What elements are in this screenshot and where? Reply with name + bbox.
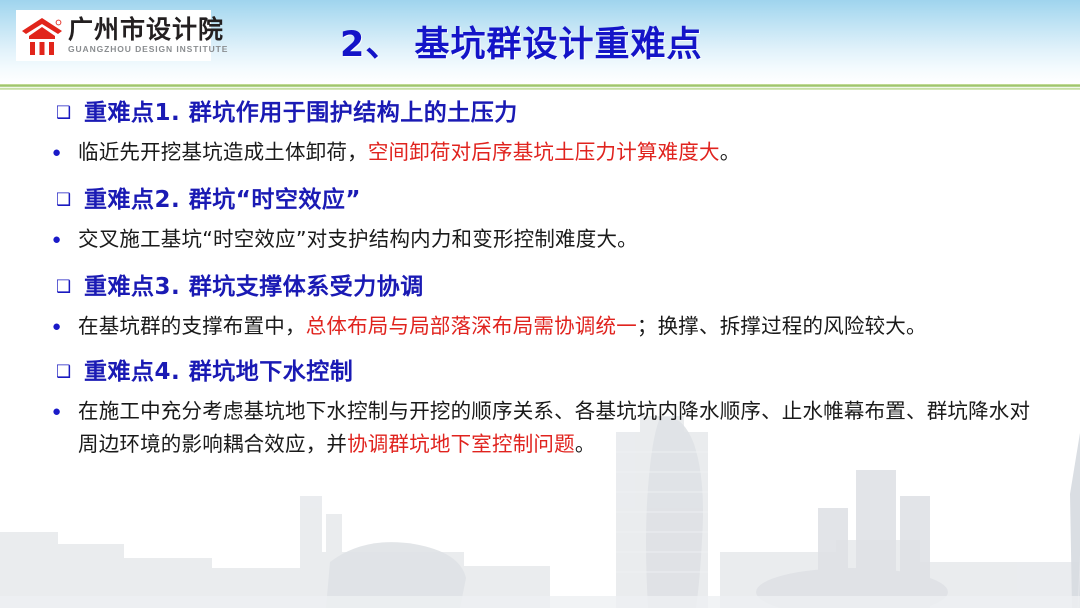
text-run: ；换撑、拆撑过程的风险较大。 — [637, 314, 927, 338]
section-2: ❑ 重难点2. 群坑“时空效应” ● 交叉施工基坑“时空效应”对支护结构内力和变… — [0, 183, 1080, 256]
square-bullet-icon: ❑ — [56, 183, 84, 217]
slide-canvas: 广州市设计院 GUANGZHOU DESIGN INSTITUTE 2、 基坑群… — [0, 0, 1080, 608]
section-1-heading: 重难点1. 群坑作用于围护结构上的土压力 — [84, 96, 518, 130]
round-bullet-icon: ● — [52, 136, 78, 169]
round-bullet-icon: ● — [52, 310, 78, 343]
section-3-heading: 重难点3. 群坑支撑体系受力协调 — [84, 270, 424, 304]
text-run: 交叉施工基坑“时空效应”对支护结构内力和变形控制难度大。 — [78, 227, 638, 251]
section-3: ❑ 重难点3. 群坑支撑体系受力协调 ● 在基坑群的支撑布置中，总体布局与局部落… — [0, 270, 1080, 343]
section-4-bullet-text: 在施工中充分考虑基坑地下水控制与开挖的顺序关系、各基坑坑内降水顺序、止水帷幕布置… — [78, 395, 1044, 461]
section-4-heading-row: ❑ 重难点4. 群坑地下水控制 — [0, 355, 1080, 389]
section-2-heading: 重难点2. 群坑“时空效应” — [84, 183, 361, 217]
section-3-bullet-text: 在基坑群的支撑布置中，总体布局与局部落深布局需协调统一；换撑、拆撑过程的风险较大… — [78, 310, 927, 343]
round-bullet-icon: ● — [52, 395, 78, 428]
square-bullet-icon: ❑ — [56, 96, 84, 130]
section-4-heading: 重难点4. 群坑地下水控制 — [84, 355, 353, 389]
section-2-bullet-text: 交叉施工基坑“时空效应”对支护结构内力和变形控制难度大。 — [78, 223, 638, 256]
text-run: 。 — [720, 140, 741, 164]
text-run: 临近先开挖基坑造成土体卸荷， — [78, 140, 368, 164]
text-run: 。 — [575, 432, 596, 456]
page-title: 2、 基坑群设计重难点 — [340, 16, 900, 67]
section-1-heading-row: ❑ 重难点1. 群坑作用于围护结构上的土压力 — [0, 96, 1080, 130]
highlight-run: 空间卸荷对后序基坑土压力计算难度大 — [368, 140, 720, 164]
highlight-run: 总体布局与局部落深布局需协调统一 — [306, 314, 637, 338]
highlight-run: 协调群坑地下室控制问题 — [347, 432, 575, 456]
square-bullet-icon: ❑ — [56, 355, 84, 389]
section-1-bullet-text: 临近先开挖基坑造成土体卸荷，空间卸荷对后序基坑土压力计算难度大。 — [78, 136, 740, 169]
house-logo-icon — [20, 16, 64, 56]
square-bullet-icon: ❑ — [56, 270, 84, 304]
logo-company-name-cn: 广州市设计院 — [68, 15, 224, 44]
slide-body: ❑ 重难点1. 群坑作用于围护结构上的土压力 ● 临近先开挖基坑造成土体卸荷，空… — [0, 96, 1080, 461]
logo-company-name-en: GUANGZHOU DESIGN INSTITUTE — [68, 45, 228, 54]
section-3-bullet-row: ● 在基坑群的支撑布置中，总体布局与局部落深布局需协调统一；换撑、拆撑过程的风险… — [0, 310, 1080, 343]
section-1: ❑ 重难点1. 群坑作用于围护结构上的土压力 ● 临近先开挖基坑造成土体卸荷，空… — [0, 96, 1080, 169]
section-2-heading-row: ❑ 重难点2. 群坑“时空效应” — [0, 183, 1080, 217]
section-1-bullet-row: ● 临近先开挖基坑造成土体卸荷，空间卸荷对后序基坑土压力计算难度大。 — [0, 136, 1080, 169]
section-4-bullet-row: ● 在施工中充分考虑基坑地下水控制与开挖的顺序关系、各基坑坑内降水顺序、止水帷幕… — [0, 395, 1080, 461]
header-green-divider — [0, 84, 1080, 90]
section-4: ❑ 重难点4. 群坑地下水控制 ● 在施工中充分考虑基坑地下水控制与开挖的顺序关… — [0, 355, 1080, 461]
text-run: 在基坑群的支撑布置中， — [78, 314, 306, 338]
section-3-heading-row: ❑ 重难点3. 群坑支撑体系受力协调 — [0, 270, 1080, 304]
company-logo: 广州市设计院 GUANGZHOU DESIGN INSTITUTE — [16, 10, 211, 61]
section-2-bullet-row: ● 交叉施工基坑“时空效应”对支护结构内力和变形控制难度大。 — [0, 223, 1080, 256]
round-bullet-icon: ● — [52, 223, 78, 256]
